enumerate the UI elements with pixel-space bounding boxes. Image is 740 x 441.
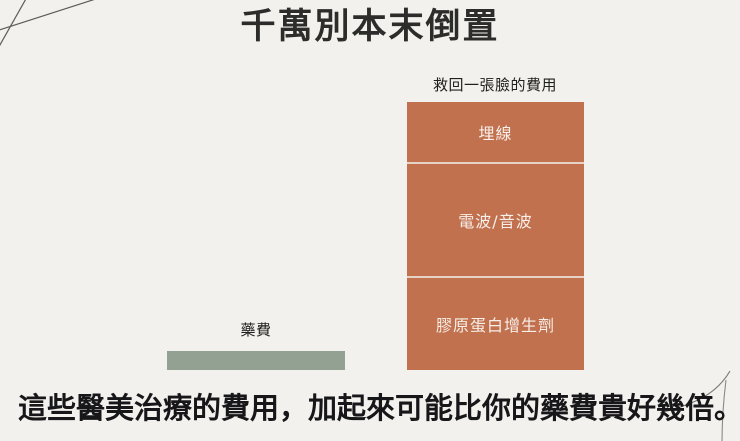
caption-text: 這些醫美治療的費用，加起來可能比你的藥費貴好幾倍。: [18, 388, 724, 428]
bar-segment-embedding-thread: 埋線: [407, 102, 584, 162]
slide-canvas: 千萬別本末倒置 藥費 救回一張臉的費用 埋線 電波/音波 膠原蛋白增生劑 這些醫…: [0, 0, 740, 441]
bar-label-medicine: 藥費: [166, 320, 346, 340]
bar-segment-collagen-stimulator: 膠原蛋白增生劑: [407, 276, 584, 370]
bar-label-treatment: 救回一張臉的費用: [405, 75, 585, 95]
bar-medicine: [167, 351, 345, 370]
bar-treatment-stack: 埋線 電波/音波 膠原蛋白增生劑: [407, 102, 584, 370]
bar-segment-radiofrequency-ultrasound: 電波/音波: [407, 162, 584, 276]
stacked-bar-chart: 藥費 救回一張臉的費用 埋線 電波/音波 膠原蛋白增生劑: [0, 0, 740, 441]
